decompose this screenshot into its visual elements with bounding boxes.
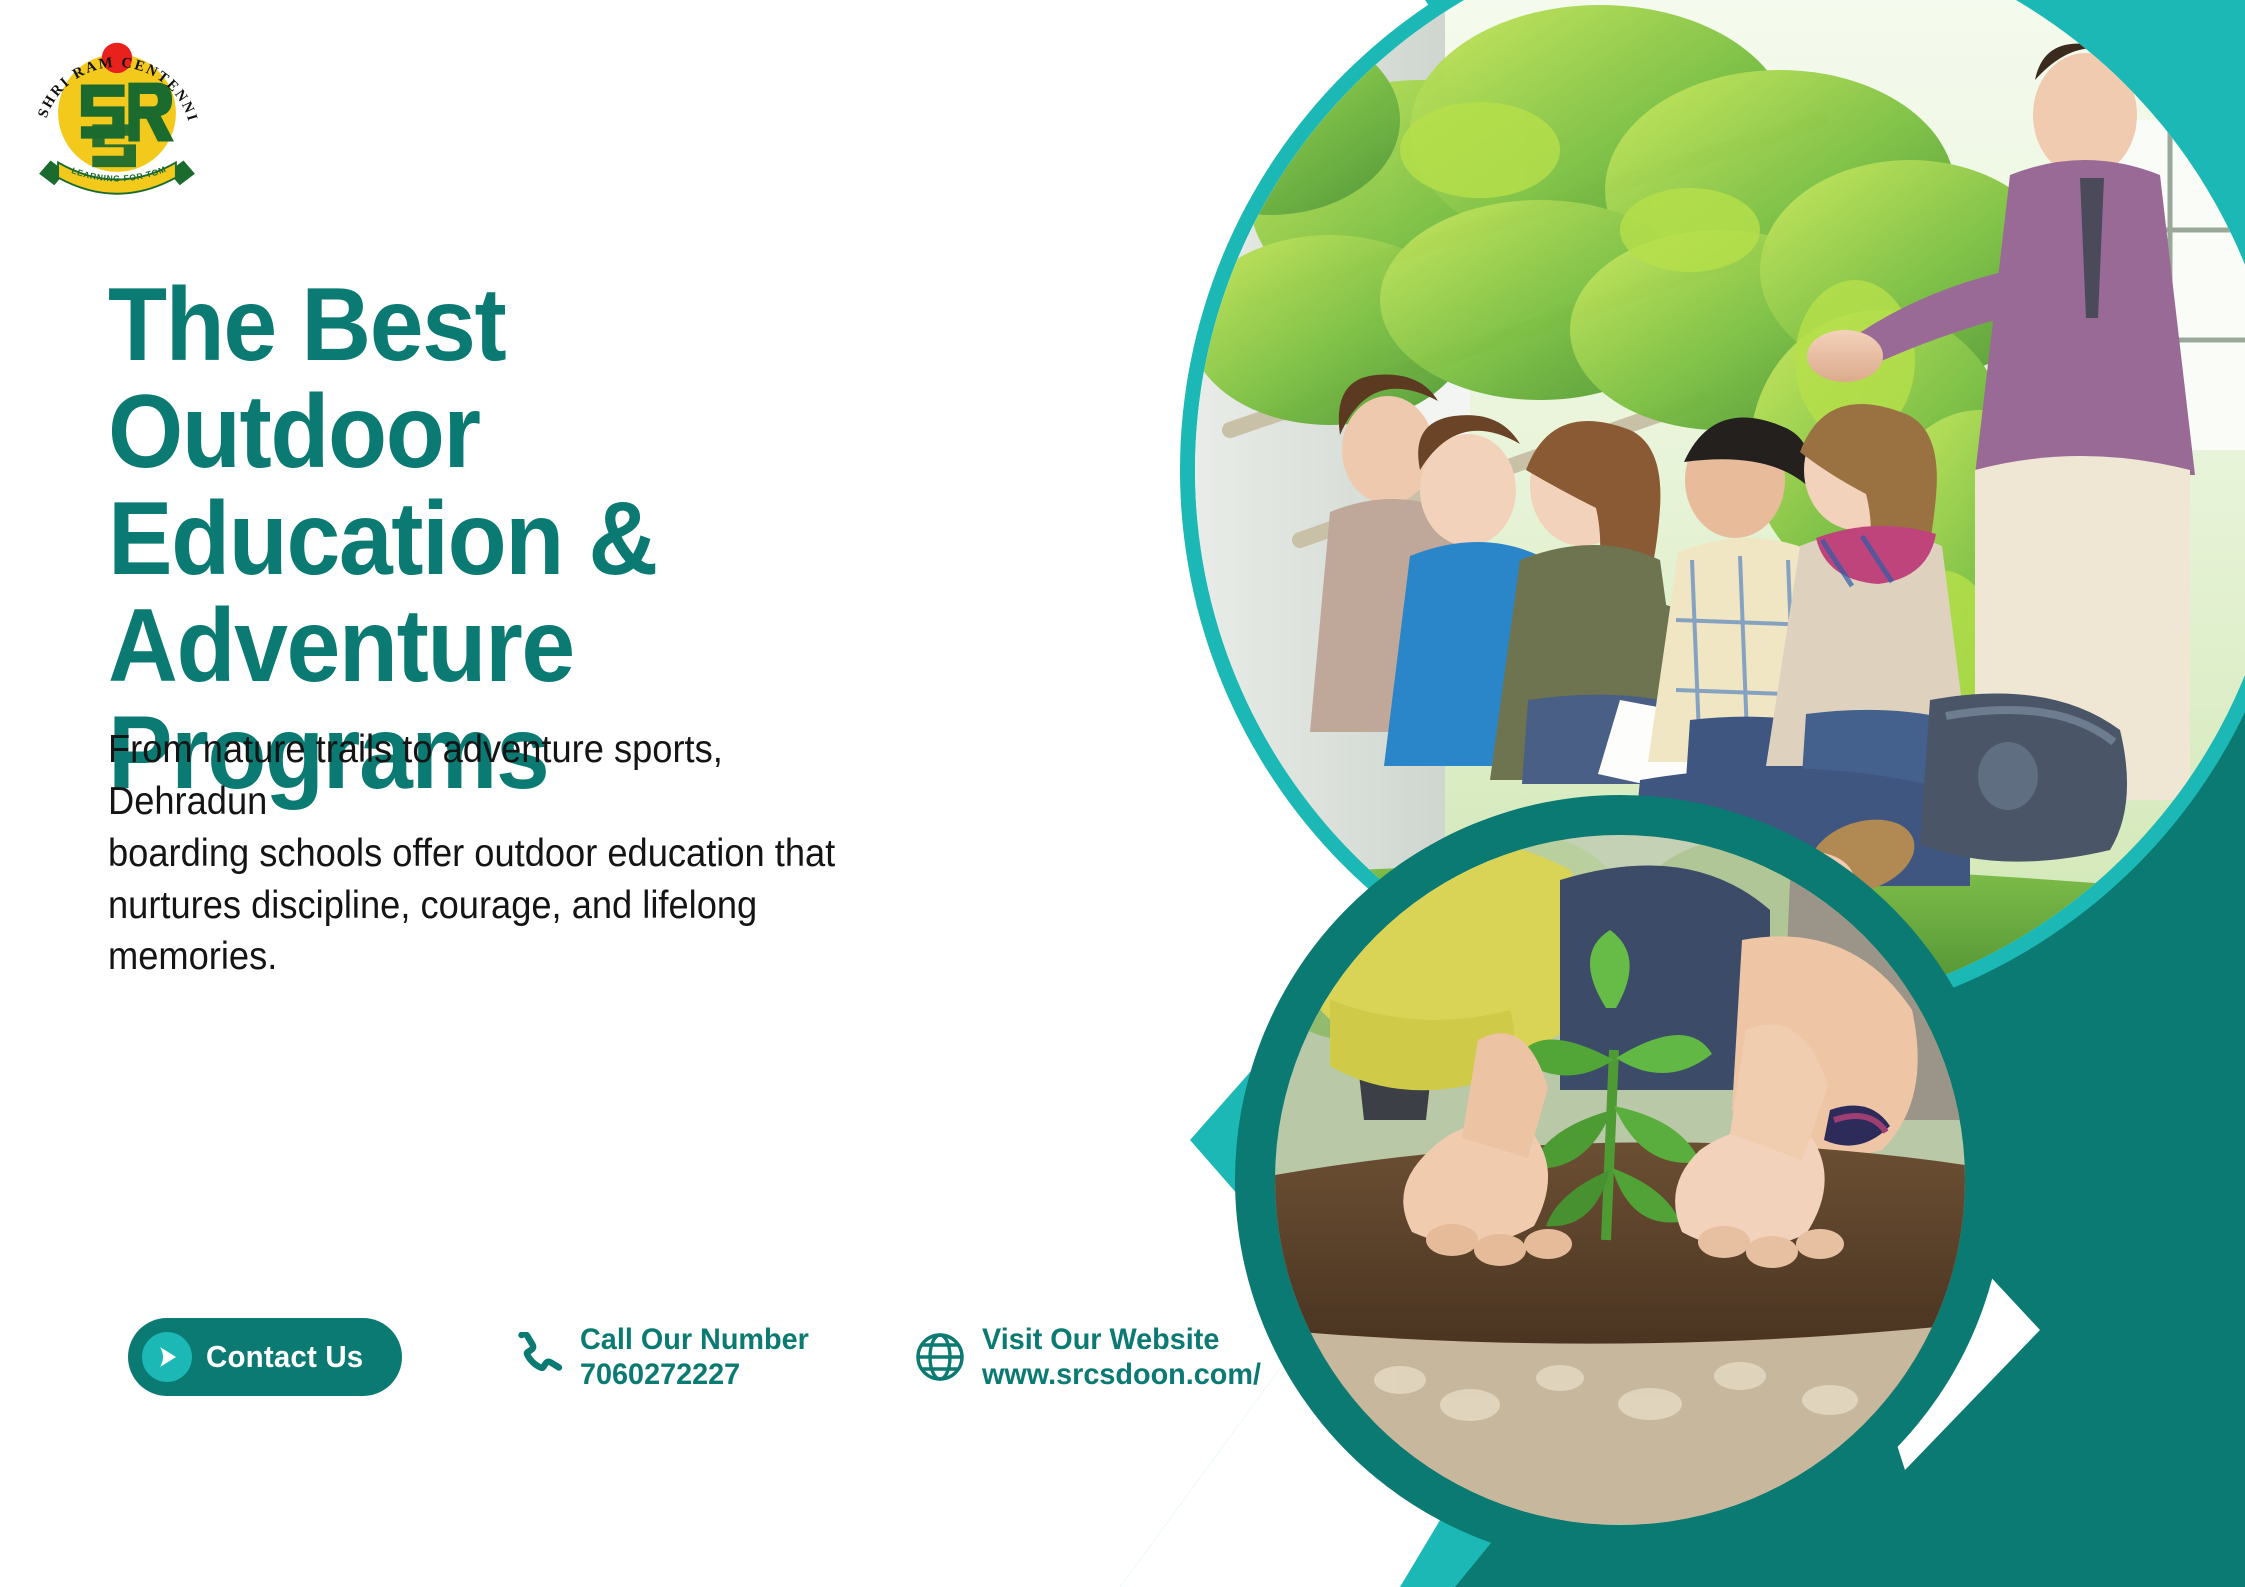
visit-our-website-title: Visit Our Website [982, 1322, 1261, 1357]
students-sitting-outdoors-photo [1140, 0, 2245, 1030]
phone-number-value: 7060272227 [580, 1357, 809, 1392]
hero-subcopy: From nature trails to adventure sports, … [108, 724, 880, 983]
poster-canvas: SHRI RAM CENTENNIAL SCHOOL LEARNING FOR … [0, 0, 2245, 1587]
visit-our-website-block[interactable]: Visit Our Website www.srcsdoon.com/ [914, 1322, 1273, 1393]
hands-planting-seedling-photo [1235, 795, 2005, 1565]
cta-row: Contact Us Call Our Number 7060272227 [128, 1318, 1273, 1396]
school-crest-logo: SHRI RAM CENTENNIAL SCHOOL LEARNING FOR … [22, 18, 212, 208]
play-arrow-icon [142, 1332, 192, 1382]
globe-icon [914, 1331, 966, 1383]
website-url-value: www.srcsdoon.com/ [982, 1357, 1261, 1392]
call-our-number-title: Call Our Number [580, 1322, 809, 1357]
phone-handset-icon [512, 1331, 564, 1383]
call-our-number-block[interactable]: Call Our Number 7060272227 [512, 1322, 818, 1393]
contact-us-label: Contact Us [206, 1339, 363, 1375]
hero-text-column: The Best Outdoor Education & Adventure P… [108, 272, 938, 808]
contact-us-button[interactable]: Contact Us [128, 1318, 402, 1396]
